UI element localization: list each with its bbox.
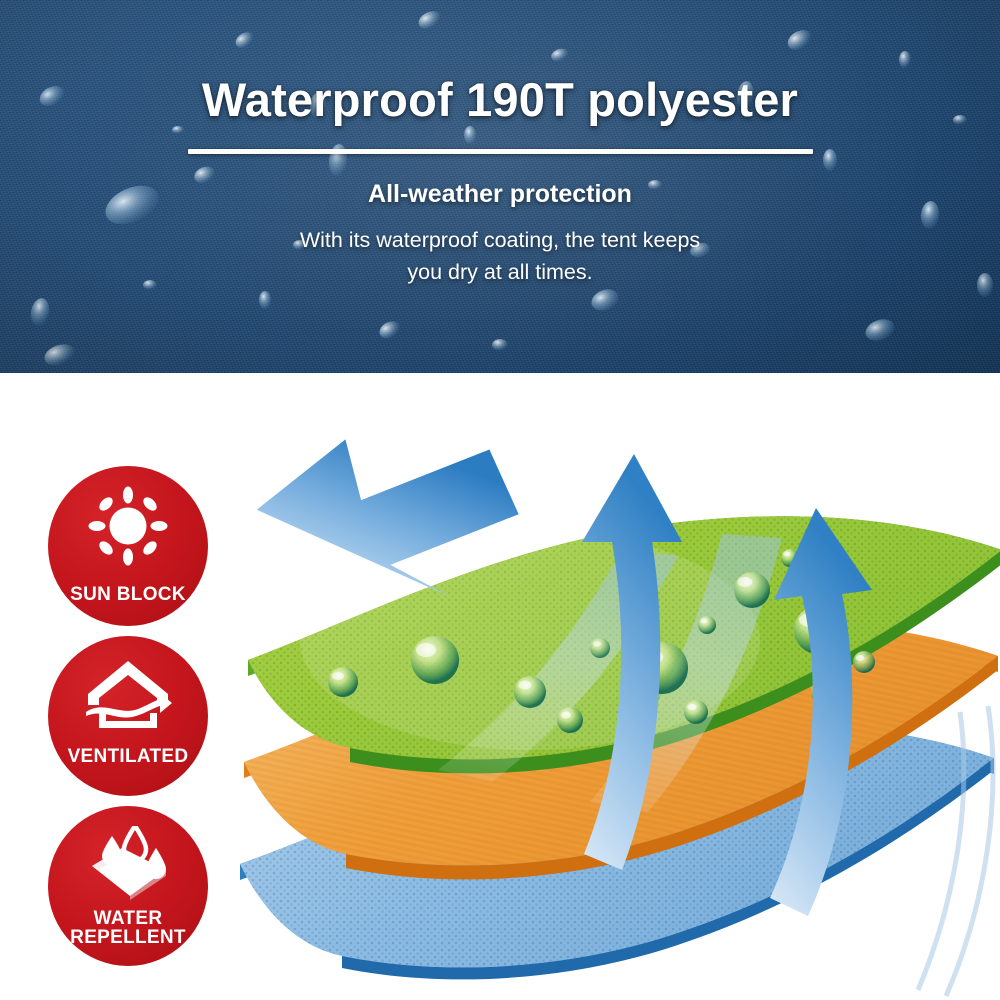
badge-sun-block: SUN BLOCK: [48, 466, 208, 626]
banner-text-block: Waterproof 190T polyester All-weather pr…: [0, 0, 1000, 373]
hero-banner: Waterproof 190T polyester All-weather pr…: [0, 0, 1000, 373]
sun-icon: [85, 486, 171, 575]
page-title: Waterproof 190T polyester: [202, 72, 798, 127]
badge-ventilated: VENTILATED: [48, 636, 208, 796]
badge-ventilated-label: VENTILATED: [68, 747, 189, 766]
banner-description-line-2: you dry at all times.: [300, 257, 700, 289]
house-airflow-icon: [80, 656, 176, 739]
fabric-layers-illustration: [230, 430, 1000, 1000]
badge-water-repellent-label-line-1: WATER: [70, 909, 186, 928]
badge-water-repellent-label-line-2: REPELLENT: [70, 928, 186, 947]
banner-description-line-1: With its waterproof coating, the tent ke…: [300, 225, 700, 257]
product-infographic: Waterproof 190T polyester All-weather pr…: [0, 0, 1000, 1000]
banner-subtitle: All-weather protection: [368, 180, 632, 209]
badge-sun-block-label: SUN BLOCK: [70, 585, 186, 604]
badge-water-repellent-label: WATER REPELLENT: [70, 909, 186, 948]
banner-description: With its waterproof coating, the tent ke…: [300, 225, 700, 289]
badge-water-repellent: WATER REPELLENT: [48, 806, 208, 966]
fabric-droplets-icon: [78, 826, 178, 905]
title-divider: [188, 149, 813, 154]
